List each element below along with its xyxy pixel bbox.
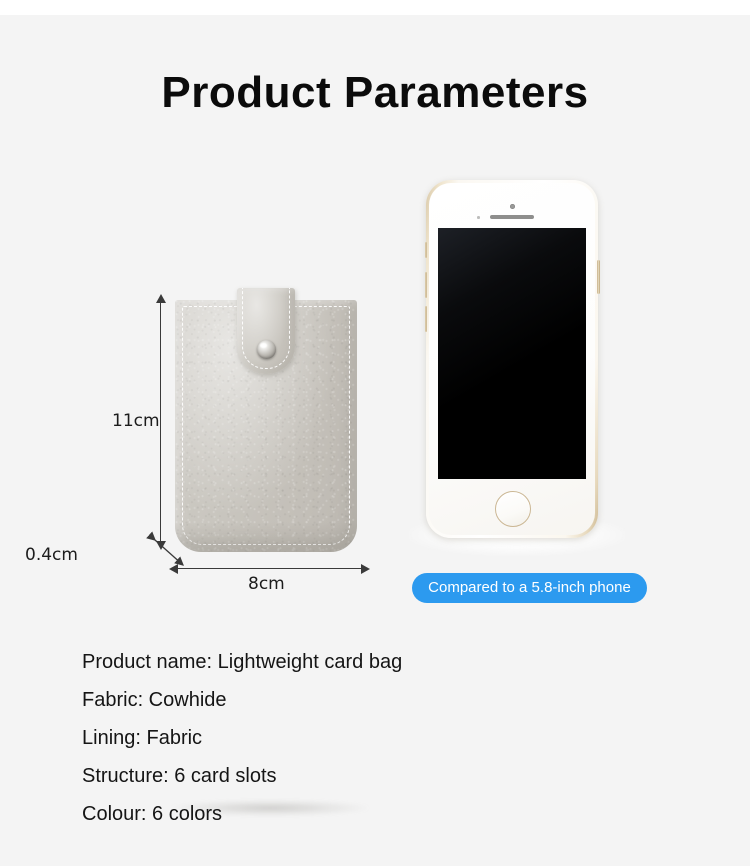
card-bag-flap <box>237 288 295 374</box>
spec-item-colour: Colour: 6 colors <box>82 795 642 833</box>
spec-list: Product name: Lightweight card bag Fabri… <box>82 643 642 833</box>
spec-item-fabric: Fabric: Cowhide <box>82 681 642 719</box>
phone-power-button-icon <box>597 260 600 294</box>
thickness-dimension-arrow <box>148 535 194 577</box>
phone-volume-up-icon <box>425 272 428 298</box>
home-button-icon <box>495 491 531 527</box>
height-dimension-label: 11cm <box>112 411 160 431</box>
spec-item-lining: Lining: Fabric <box>82 719 642 757</box>
phone-figure <box>400 160 640 580</box>
width-arrow-right-icon <box>361 564 370 574</box>
phone-comparison-caption: Compared to a 5.8-inch phone <box>412 573 647 603</box>
phone-body <box>426 180 598 538</box>
phone-mute-switch-icon <box>425 242 428 258</box>
front-camera-icon <box>510 204 515 209</box>
spec-item-product-name: Product name: Lightweight card bag <box>82 643 642 681</box>
card-bag-figure: 11cm 8cm 0.4cm <box>100 280 400 600</box>
phone-screen <box>438 228 586 479</box>
proximity-sensor-icon <box>477 216 480 219</box>
page-title: Product Parameters <box>0 68 750 118</box>
height-dimension-line <box>160 302 161 548</box>
thickness-dimension-label: 0.4cm <box>25 545 78 565</box>
earpiece-speaker-icon <box>490 215 534 219</box>
phone-front-face <box>429 183 595 535</box>
spec-item-structure: Structure: 6 card slots <box>82 757 642 795</box>
height-arrow-top-icon <box>156 294 166 303</box>
snap-button-icon <box>257 340 276 359</box>
width-dimension-line <box>178 568 364 569</box>
width-dimension-label: 8cm <box>248 574 285 594</box>
phone-volume-down-icon <box>425 306 428 332</box>
product-parameters-page: Product Parameters 11cm 8cm <box>0 0 750 866</box>
